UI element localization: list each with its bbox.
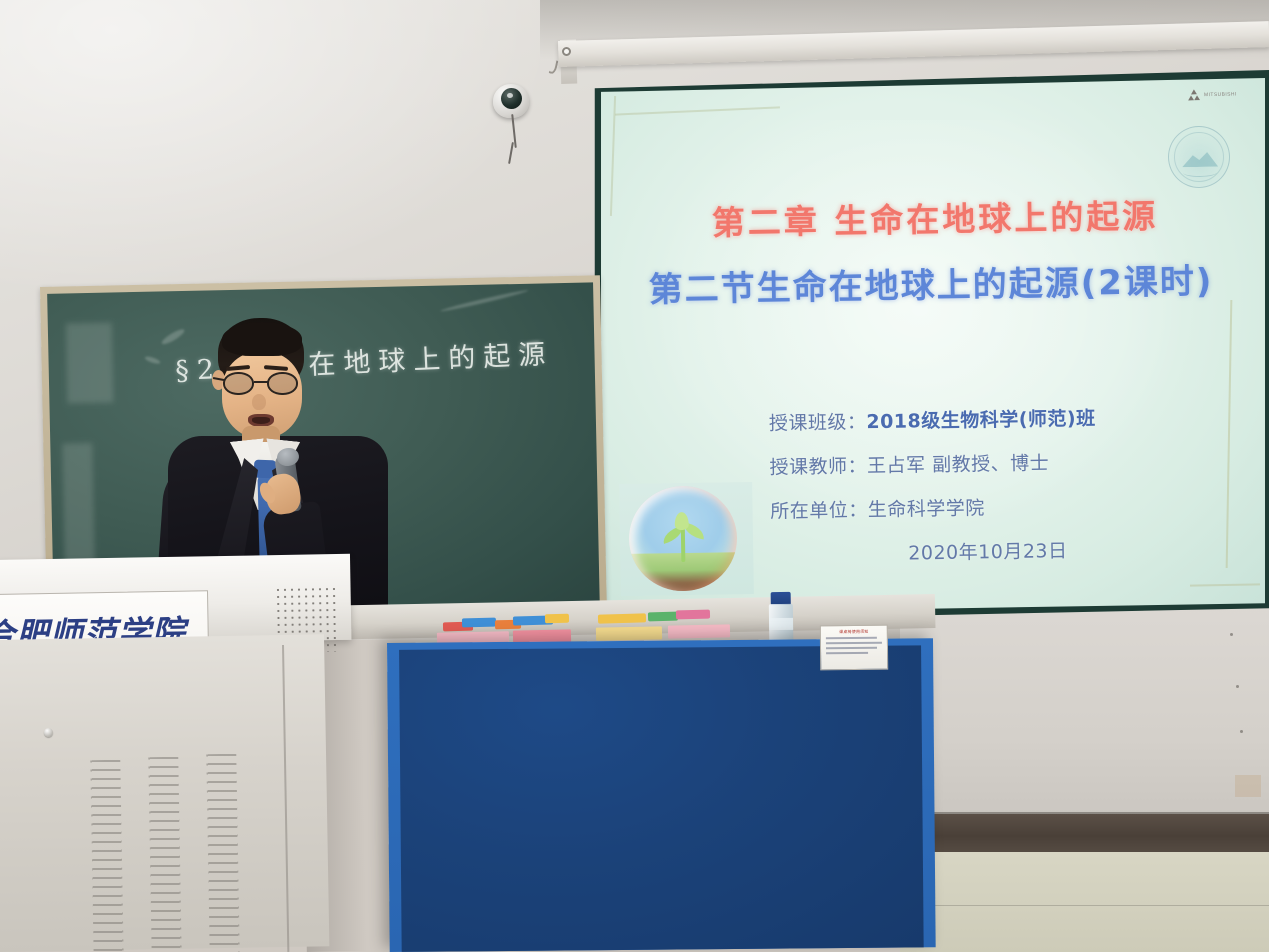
slide-date: 2020年10月23日: [771, 533, 1241, 567]
wall-mark: [1230, 633, 1233, 636]
lecture-hall-photo: MITSUBISHI 第二章 生命在地球上的起源 第二节生命在地球上的起源(2课…: [0, 0, 1269, 952]
bottle-label: [769, 618, 793, 630]
chalk-box: [668, 624, 730, 638]
chalk-dust: [440, 288, 529, 312]
podium-vent: [148, 757, 181, 952]
podium-vent: [90, 760, 123, 952]
chalk-dust: [144, 355, 161, 365]
slide-value-teacher: 王占军 副教授、博士: [867, 452, 1049, 477]
notice-text-line: [826, 652, 868, 654]
wall-lower-right: [900, 600, 1269, 830]
slide-line-unit: 所在单位：生命科学学院: [770, 489, 1240, 523]
podium-vent: [206, 754, 239, 952]
blue-board-face: [399, 645, 924, 952]
glasses-lens-right: [267, 372, 298, 395]
notice-text-line: [826, 642, 882, 645]
chalk-item: [545, 614, 569, 624]
slide-section-title: 第二节生命在地球上的起源(2课时): [616, 253, 1247, 312]
foreground-blue-board: [387, 638, 936, 952]
slide-label-unit: 所在单位：: [770, 499, 868, 523]
notice-title: 课桌椅使用须知: [825, 629, 883, 636]
presenter-nose: [252, 394, 266, 410]
chalk-item: [648, 612, 678, 622]
camera-lens: [501, 88, 522, 109]
water-bottle: [768, 592, 795, 644]
ceiling-dome-camera: [493, 84, 529, 122]
notice-text-line: [826, 647, 877, 650]
chalk-item: [676, 610, 710, 620]
chalk-item: [598, 613, 646, 623]
slide-value-class: 2018级生物科学(师范)班: [866, 408, 1096, 434]
wall-mark: [1236, 685, 1239, 688]
brand-label: MITSUBISHI: [1204, 91, 1237, 98]
floor-seam: [900, 905, 1269, 906]
chalk-box: [596, 626, 662, 640]
wall-mark: [1240, 730, 1243, 733]
chalk-smudge: [66, 323, 114, 404]
slide-label-teacher: 授课教师：: [769, 455, 867, 479]
glasses-lens-left: [223, 372, 254, 395]
slide-body: 授课班级：2018级生物科学(师范)班 授课教师：王占军 副教授、博士 所在单位…: [769, 401, 1242, 584]
screen-mount-eye: [562, 47, 571, 56]
podium-screw: [44, 728, 53, 737]
slide-label-class: 授课班级：: [769, 411, 867, 435]
slide-chapter-title: 第二章 生命在地球上的起源: [655, 189, 1216, 246]
presenter-mouth-inner: [252, 417, 270, 424]
wall-patch: [1235, 775, 1261, 797]
glasses-icon: [221, 372, 305, 396]
presenter-hair-fringe: [222, 322, 302, 356]
slide-earth-sprout-image: [619, 482, 754, 596]
chalk-item: [462, 618, 496, 628]
floor: [900, 852, 1269, 952]
glasses-bridge: [254, 381, 269, 383]
slide-line-teacher: 授课教师：王占军 副教授、博士: [769, 445, 1239, 479]
notice-text-line: [826, 637, 877, 640]
camera-glint: [507, 93, 513, 98]
notice-placard: 课桌椅使用须知: [820, 625, 888, 671]
screen-brand-mark: MITSUBISHI: [1188, 88, 1237, 100]
slide-value-unit: 生命科学学院: [868, 497, 985, 521]
baseboard: [900, 812, 1269, 854]
mitsubishi-diamond-icon: [1188, 89, 1200, 100]
wall-light-sheen: [0, 0, 560, 300]
